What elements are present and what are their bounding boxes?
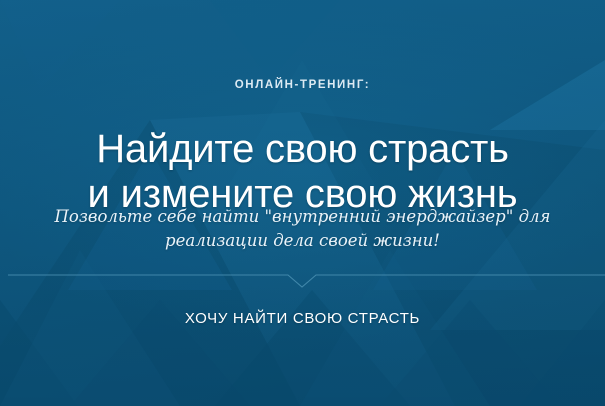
- page-title: Найдите свою страсть и измените свою жиз…: [0, 127, 605, 217]
- chevron-down-notch-icon: [0, 268, 605, 290]
- subtitle-text: Позвольте себе найти "внутренний энерджа…: [22, 205, 583, 253]
- section-divider: [0, 268, 605, 290]
- hero-content: ОНЛАЙН-ТРЕНИНГ: Найдите свою страсть и и…: [0, 0, 605, 406]
- cta-button[interactable]: ХОЧУ НАЙТИ СВОЮ СТРАСТЬ: [0, 310, 605, 327]
- hero-banner: ОНЛАЙН-ТРЕНИНГ: Найдите свою страсть и и…: [0, 0, 605, 406]
- cta-button-label: ХОЧУ НАЙТИ СВОЮ СТРАСТЬ: [185, 310, 420, 327]
- headline-line-1: Найдите свою страсть: [0, 127, 605, 172]
- eyebrow-label: ОНЛАЙН-ТРЕНИНГ:: [0, 79, 605, 91]
